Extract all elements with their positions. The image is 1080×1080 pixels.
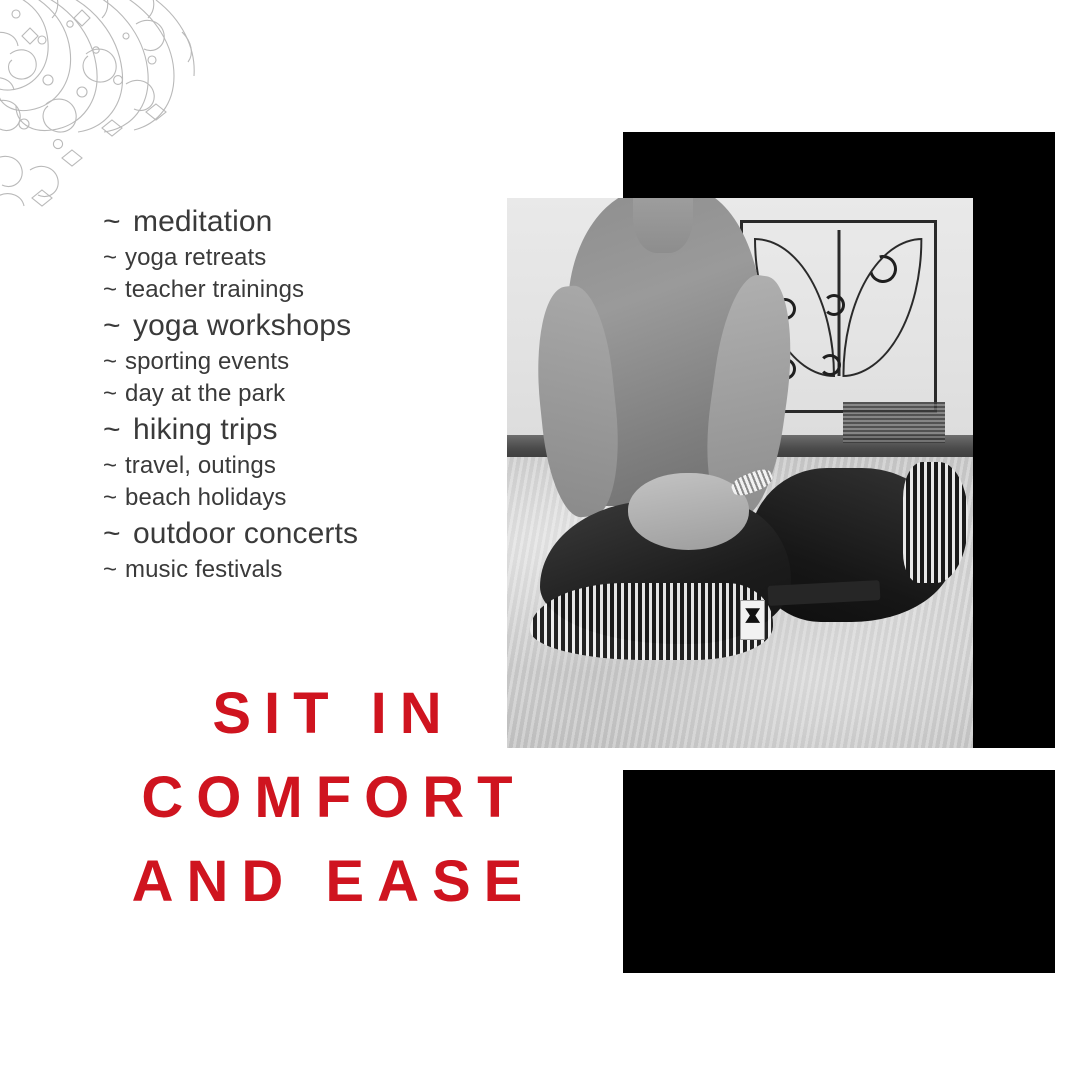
meditation-photo — [507, 198, 973, 748]
benefits-list: ~meditation ~yoga retreats ~teacher trai… — [103, 202, 523, 586]
photo-scene — [507, 198, 973, 748]
list-item: ~day at the park — [103, 378, 523, 410]
floor-vent — [843, 402, 946, 443]
tilde-bullet: ~ — [103, 274, 125, 306]
tilde-bullet: ~ — [103, 378, 125, 410]
iron-scroll — [823, 294, 845, 316]
headline-line-2: COMFORT — [96, 756, 558, 840]
list-item: ~yoga workshops — [103, 306, 523, 346]
list-item-label: yoga retreats — [125, 242, 266, 274]
list-item-label: hiking trips — [133, 410, 278, 450]
list-item: ~yoga retreats — [103, 242, 523, 274]
list-item: ~meditation — [103, 202, 523, 242]
cushion-brand-tag — [740, 600, 765, 641]
list-item: ~teacher trainings — [103, 274, 523, 306]
list-item-label: beach holidays — [125, 482, 287, 514]
cushion-pattern-band — [530, 583, 772, 660]
list-item-label: travel, outings — [125, 450, 276, 482]
tilde-bullet: ~ — [103, 482, 125, 514]
tilde-bullet: ~ — [103, 306, 133, 346]
list-item-label: teacher trainings — [125, 274, 304, 306]
iron-scroll — [864, 250, 902, 288]
tilde-bullet: ~ — [103, 450, 125, 482]
corner-mandala-ornament — [0, 0, 236, 234]
list-item: ~music festivals — [103, 554, 523, 586]
list-item-label: music festivals — [125, 554, 283, 586]
tilde-bullet: ~ — [103, 554, 125, 586]
list-item: ~travel, outings — [103, 450, 523, 482]
headline-line-1: SIT IN — [96, 672, 558, 756]
tilde-bullet: ~ — [103, 202, 133, 242]
list-item-label: outdoor concerts — [133, 514, 358, 554]
list-item-label: yoga workshops — [133, 306, 351, 346]
headline-line-3: AND EASE — [96, 840, 558, 924]
tilde-bullet: ~ — [103, 410, 133, 450]
tilde-bullet: ~ — [103, 242, 125, 274]
tilde-bullet: ~ — [103, 514, 133, 554]
list-item: ~sporting events — [103, 346, 523, 378]
cushion-pattern-band-right — [903, 462, 968, 583]
tilde-bullet: ~ — [103, 346, 125, 378]
list-item-label: sporting events — [125, 346, 289, 378]
person-neck — [633, 198, 694, 253]
poster-canvas: ~meditation ~yoga retreats ~teacher trai… — [0, 0, 1080, 1080]
headline: SIT IN COMFORT AND EASE — [96, 672, 558, 924]
list-item-label: day at the park — [125, 378, 285, 410]
black-block-bottom — [623, 770, 1055, 973]
list-item: ~beach holidays — [103, 482, 523, 514]
list-item: ~hiking trips — [103, 410, 523, 450]
list-item: ~outdoor concerts — [103, 514, 523, 554]
list-item-label: meditation — [133, 202, 272, 242]
